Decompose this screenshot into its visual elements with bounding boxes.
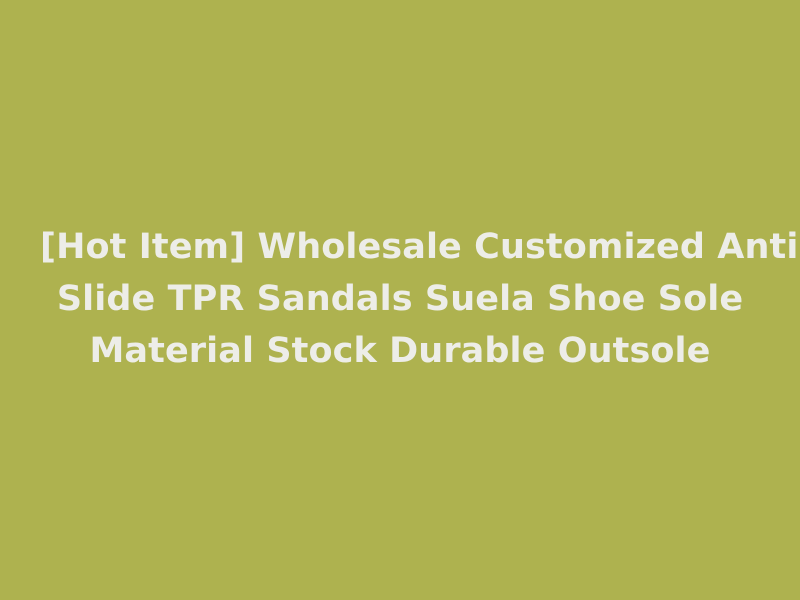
product-title-line-3: Material Stock Durable Outsole	[40, 325, 760, 377]
product-title-line-2: Slide TPR Sandals Suela Shoe Sole	[40, 273, 760, 325]
product-title-line-1: [Hot Item] Wholesale Customized Anti	[40, 221, 760, 273]
product-title: [Hot Item] Wholesale Customized Anti Sli…	[30, 221, 770, 377]
product-placeholder-card: [Hot Item] Wholesale Customized Anti Sli…	[0, 0, 800, 600]
